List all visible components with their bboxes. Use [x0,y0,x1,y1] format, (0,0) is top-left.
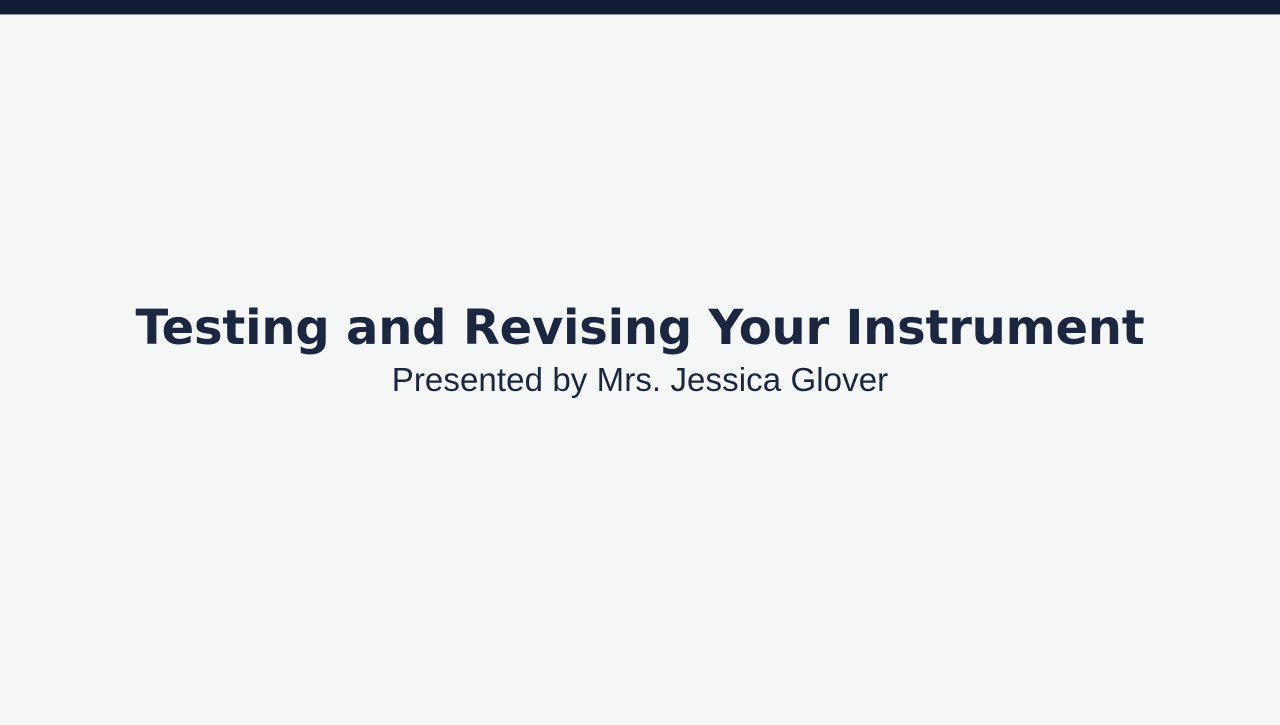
slide-subtitle: Presented by Mrs. Jessica Glover [0,361,1280,399]
slide-stage: Testing and Revising Your Instrument Pre… [0,15,1280,725]
slide-title: Testing and Revising Your Instrument [0,303,1280,354]
presentation-window: Testing and Revising Your Instrument Pre… [0,0,1280,725]
window-top-bar [0,0,1280,15]
title-block: Testing and Revising Your Instrument Pre… [0,303,1280,400]
